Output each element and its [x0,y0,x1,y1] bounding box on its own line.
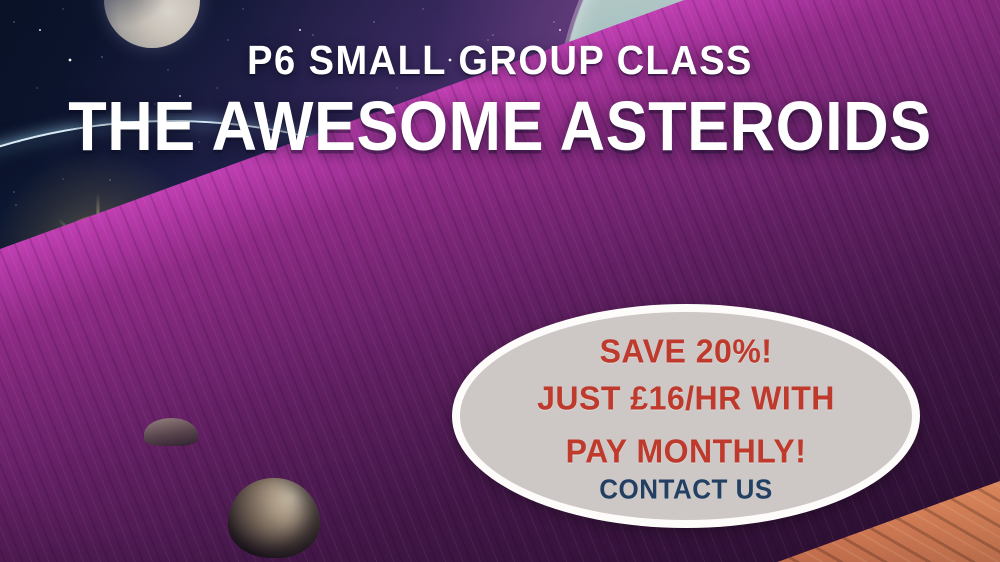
headline-block: P6 SMALL GROUP CLASS THE AWESOME ASTEROI… [0,42,1000,159]
offer-line-save: SAVE 20%! [600,334,773,368]
offer-line-price: JUST £16/HR WITH [537,381,835,415]
poster-canvas: P6 SMALL GROUP CLASS THE AWESOME ASTEROI… [0,0,1000,562]
boulder-foreground [228,478,320,558]
boulder-small [144,418,198,446]
kicker-text: P6 SMALL GROUP CLASS [0,40,1000,81]
page-title: THE AWESOME ASTEROIDS [0,93,1000,162]
contact-us-button[interactable]: CONTACT US [599,475,773,502]
offer-bubble[interactable]: SAVE 20%! JUST £16/HR WITH PAY MONTHLY! … [452,304,920,528]
offer-line-pay-monthly: PAY MONTHLY! [566,434,807,468]
